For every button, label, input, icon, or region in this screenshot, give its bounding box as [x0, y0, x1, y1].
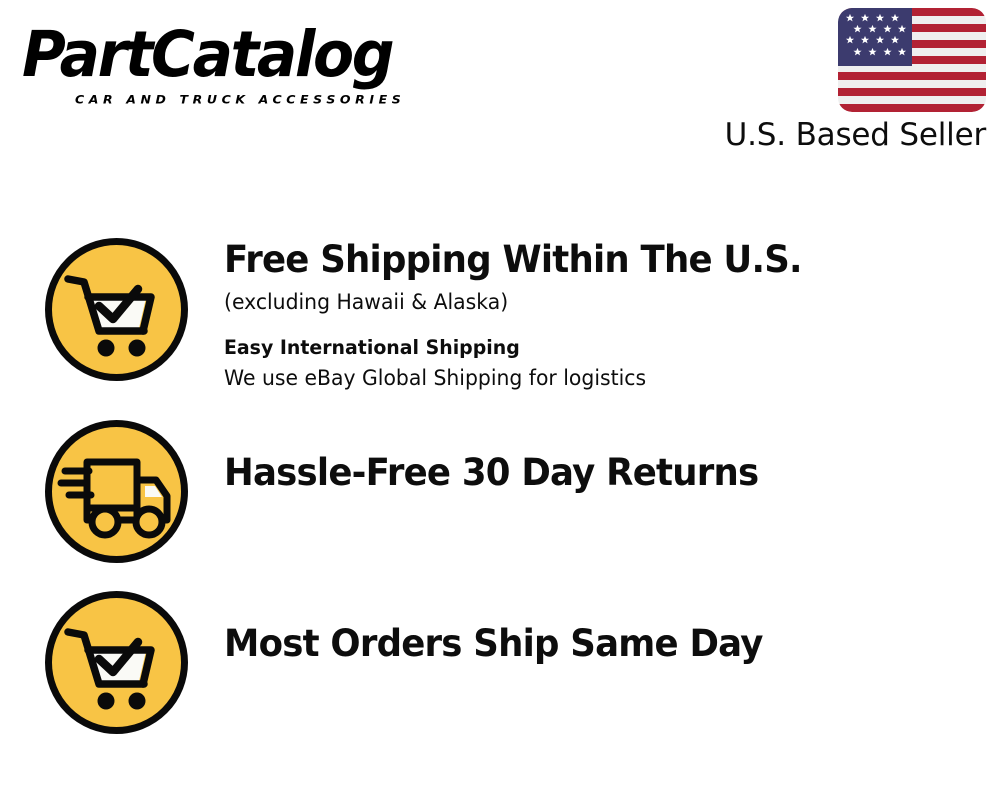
us-flag-icon — [838, 8, 986, 112]
feature-text-block: Free Shipping Within The U.S. (excluding… — [224, 236, 826, 393]
feature-subline-strong: Easy International Shipping — [224, 333, 808, 363]
feature-text-block: Most Orders Ship Same Day — [224, 589, 785, 666]
feature-headline: Hassle-Free 30 Day Returns — [224, 451, 758, 495]
delivery-truck-icon — [43, 418, 190, 565]
brand-logo[interactable]: PartCatalog CAR AND TRUCK ACCESSORIES — [22, 22, 492, 88]
us-based-seller-badge: U.S. Based Seller — [706, 8, 986, 154]
page-header: PartCatalog CAR AND TRUCK ACCESSORIES — [0, 0, 1000, 170]
seller-badge-label: U.S. Based Seller — [706, 116, 986, 154]
feature-row: Free Shipping Within The U.S. (excluding… — [0, 236, 1000, 393]
brand-wordmark: PartCatalog — [22, 22, 469, 88]
feature-row: Hassle-Free 30 Day Returns — [0, 418, 1000, 565]
feature-intl-group: Easy International Shipping We use eBay … — [224, 333, 826, 393]
cart-check-icon — [43, 589, 190, 736]
brand-tagline: CAR AND TRUCK ACCESSORIES — [75, 93, 405, 107]
feature-text-block: Hassle-Free 30 Day Returns — [224, 418, 781, 495]
feature-subline: (excluding Hawaii & Alaska) — [224, 287, 808, 317]
feature-sub-group: (excluding Hawaii & Alaska) — [224, 287, 826, 317]
feature-subline: We use eBay Global Shipping for logistic… — [224, 363, 808, 393]
feature-headline: Most Orders Ship Same Day — [224, 622, 763, 666]
feature-headline: Free Shipping Within The U.S. — [224, 238, 802, 282]
feature-row: Most Orders Ship Same Day — [0, 589, 1000, 736]
cart-check-icon — [43, 236, 190, 383]
